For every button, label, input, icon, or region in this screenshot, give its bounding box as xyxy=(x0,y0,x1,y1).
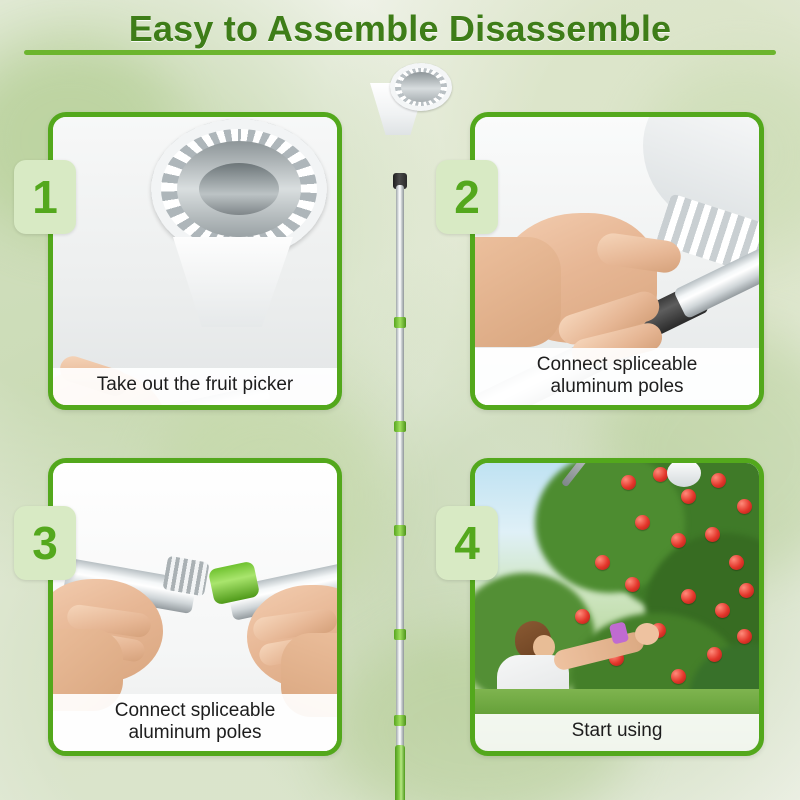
step-number-badge-4: 4 xyxy=(436,506,498,580)
apple xyxy=(705,527,720,542)
apple xyxy=(739,583,754,598)
step-number-badge-1: 1 xyxy=(14,160,76,234)
step-number-badge-2: 2 xyxy=(436,160,498,234)
apple xyxy=(729,555,744,570)
picker-bag-illustration xyxy=(173,237,293,327)
apple xyxy=(711,473,726,488)
product-aluminum-pole xyxy=(396,185,404,800)
step-card-1: Take out the fruit picker xyxy=(48,112,342,410)
step-number-badge-3: 3 xyxy=(14,506,76,580)
product-pole-joint xyxy=(394,525,406,536)
step-card-4: Start using xyxy=(470,458,764,756)
product-ring-opening xyxy=(401,72,441,102)
apple xyxy=(715,603,730,618)
apple xyxy=(707,647,722,662)
product-green-handle xyxy=(395,745,405,800)
product-infographic-poster: Easy to Assemble Disassemble Take out th… xyxy=(0,0,800,800)
product-pole-joint xyxy=(394,629,406,640)
forearm-illustration xyxy=(475,237,561,347)
apple xyxy=(737,499,752,514)
step-2-caption-line-2: aluminum poles xyxy=(485,376,749,397)
step-4-caption: Start using xyxy=(475,714,759,751)
step-2-caption: Connect spliceable aluminum poles xyxy=(475,348,759,405)
product-pole-joint xyxy=(394,715,406,726)
step-2-caption-line-1: Connect spliceable xyxy=(485,354,749,375)
step-4-photo xyxy=(475,463,759,751)
product-pole-joint xyxy=(394,421,406,432)
step-3-caption-line-2: aluminum poles xyxy=(63,722,327,743)
step-card-3: Connect spliceable aluminum poles xyxy=(48,458,342,756)
step-1-photo xyxy=(53,117,337,405)
product-picker-head xyxy=(348,57,452,125)
person-hand xyxy=(635,623,659,645)
step-1-caption: Take out the fruit picker xyxy=(53,368,337,405)
step-3-caption-line-1: Connect spliceable xyxy=(63,700,327,721)
page-title: Easy to Assemble Disassemble xyxy=(129,8,672,50)
pole-threaded-end xyxy=(162,556,209,597)
step-card-2: Connect spliceable aluminum poles xyxy=(470,112,764,410)
apple xyxy=(737,629,752,644)
apple xyxy=(653,467,668,482)
product-pole-joint xyxy=(394,317,406,328)
step-3-caption: Connect spliceable aluminum poles xyxy=(53,694,337,751)
